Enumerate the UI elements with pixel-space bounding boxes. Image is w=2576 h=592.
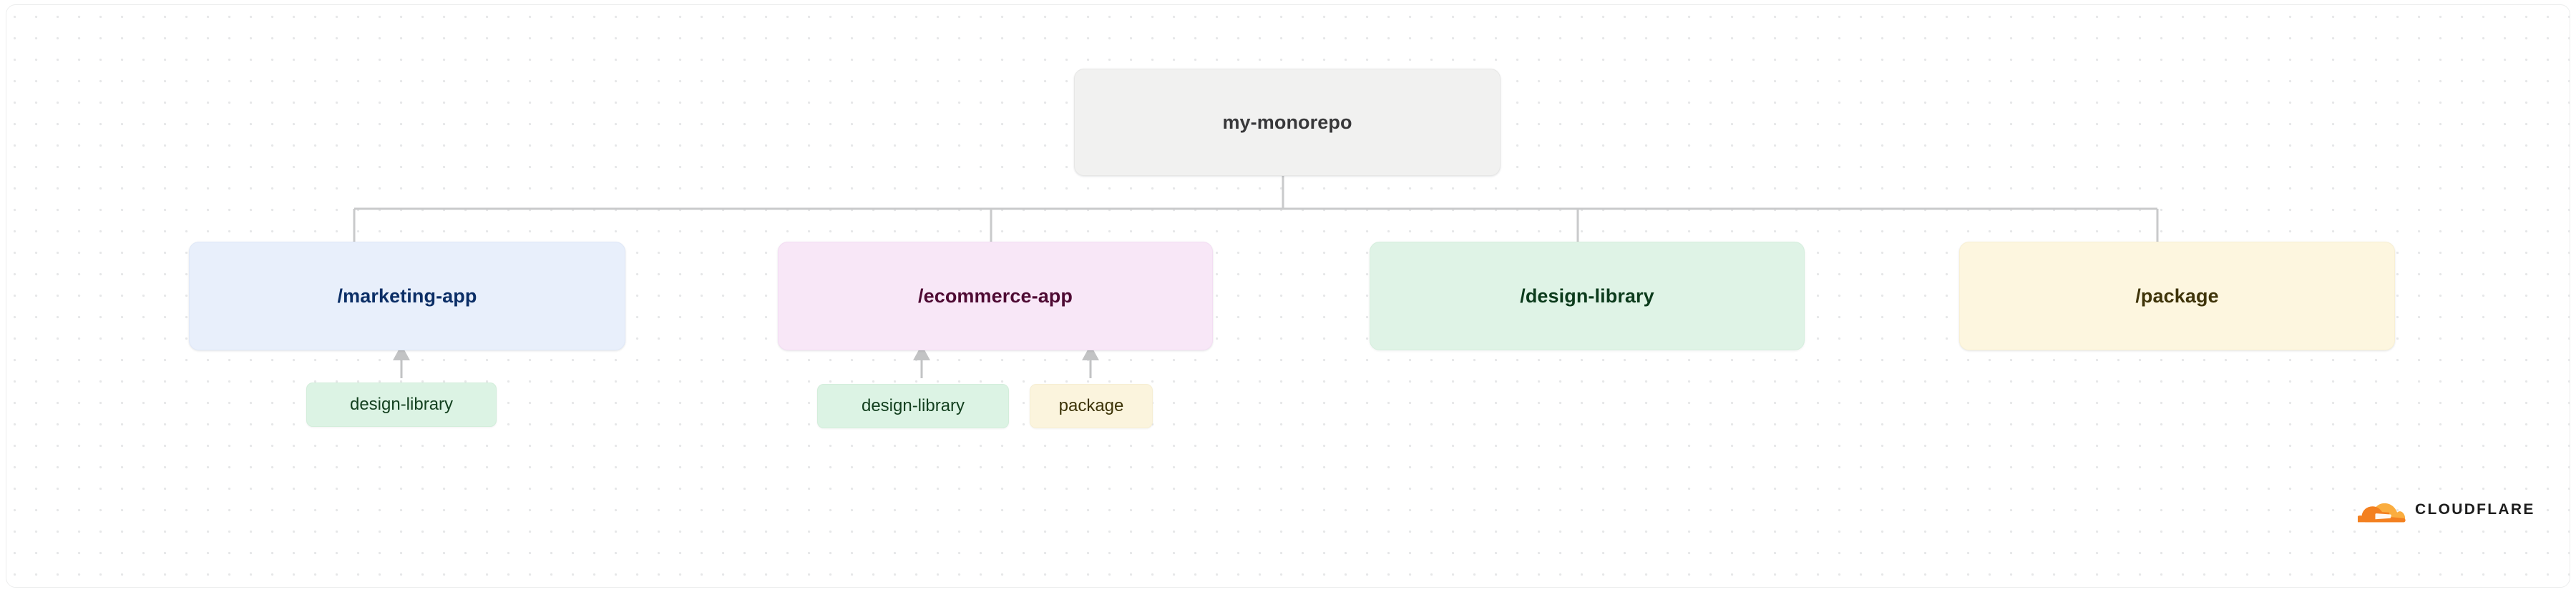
- node-label: /ecommerce-app: [918, 285, 1073, 307]
- dependency-graph: my-monorepo /marketing-app /ecommerce-ap…: [6, 5, 2570, 587]
- node-label: my-monorepo: [1222, 112, 1352, 134]
- cloudflare-wordmark: CLOUDFLARE: [2415, 502, 2535, 517]
- node-label: /package: [2135, 285, 2218, 307]
- node-my-monorepo[interactable]: my-monorepo: [1074, 69, 1501, 176]
- chip-ecommerce-design-library[interactable]: design-library: [817, 384, 1009, 428]
- chip-label: package: [1059, 396, 1124, 416]
- node-ecommerce-app[interactable]: /ecommerce-app: [778, 242, 1213, 350]
- cloudflare-cloud-icon: [2358, 495, 2406, 523]
- node-package[interactable]: /package: [1959, 242, 2395, 350]
- chip-marketing-design-library[interactable]: design-library: [306, 383, 497, 427]
- node-marketing-app[interactable]: /marketing-app: [189, 242, 625, 350]
- node-design-library[interactable]: /design-library: [1370, 242, 1805, 350]
- diagram-canvas: my-monorepo /marketing-app /ecommerce-ap…: [6, 4, 2570, 588]
- chip-ecommerce-package[interactable]: package: [1030, 384, 1153, 428]
- chip-label: design-library: [862, 396, 965, 416]
- node-label: /marketing-app: [338, 285, 477, 307]
- node-label: /design-library: [1520, 285, 1654, 307]
- chip-label: design-library: [350, 395, 453, 415]
- cloudflare-logo: CLOUDFLARE: [2358, 493, 2535, 526]
